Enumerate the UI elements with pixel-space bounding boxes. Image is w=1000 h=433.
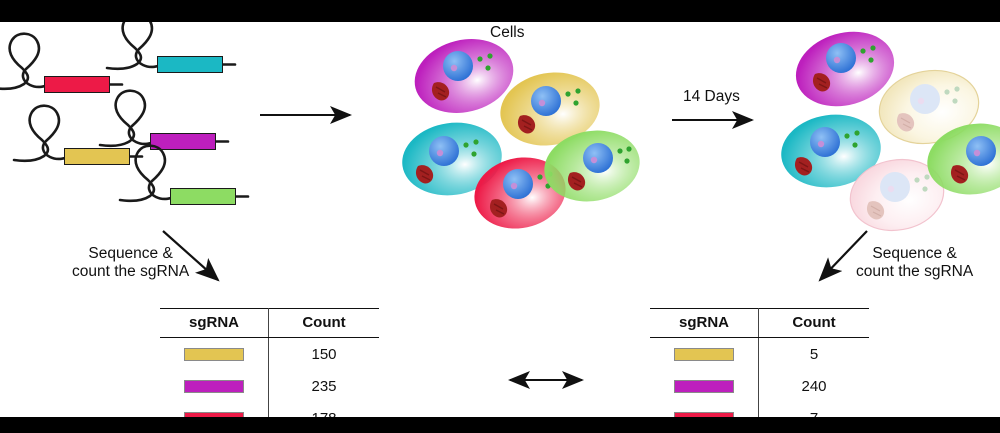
table-row: 235 — [160, 370, 379, 402]
header-sgrna: sgRNA — [650, 309, 759, 338]
letterbox-top — [0, 0, 1000, 22]
sgrna-swatch-yellow — [184, 348, 244, 361]
count-value: 150 — [269, 338, 380, 371]
sgrna-swatch-cell — [160, 370, 269, 402]
sgrna-swatch-cell — [650, 338, 759, 371]
right-sequence-arrow — [812, 228, 892, 293]
time-label: 14 Days — [683, 88, 740, 106]
table-before: sgRNA Count 150 235 — [160, 308, 379, 433]
cell-green — [540, 125, 644, 207]
time-arrow — [670, 110, 770, 136]
sgrna-swatch-cell — [160, 338, 269, 371]
table-after: sgRNA Count 5 240 — [650, 308, 869, 433]
count-table-after: sgRNA Count 5 240 — [650, 308, 868, 433]
header-sgrna: sgRNA — [160, 309, 269, 338]
table-row: 5 — [650, 338, 869, 371]
table-row: 150 — [160, 338, 379, 371]
header-count: Count — [759, 309, 870, 338]
left-sequence-arrow — [160, 228, 240, 293]
comparison-arrow — [498, 368, 594, 392]
sgrna-swatch-magenta — [674, 380, 734, 393]
sgrna-swatch-cell — [650, 370, 759, 402]
count-table-before: sgRNA Count 150 235 — [160, 308, 378, 433]
table-row: 240 — [650, 370, 869, 402]
sgrna-target-sequence-bar — [157, 56, 223, 73]
cell-green — [923, 118, 1000, 200]
crispr-screen-figure: Cells — [0, 0, 1000, 433]
count-value: 240 — [759, 370, 870, 402]
table-header-row: sgRNA Count — [650, 309, 869, 338]
sgrna-swatch-yellow — [674, 348, 734, 361]
sgrna-target-sequence-bar — [170, 188, 236, 205]
sgrna-construct-green — [118, 140, 248, 218]
letterbox-bottom — [0, 417, 1000, 433]
transduction-arrow — [258, 100, 368, 130]
sgrna-scaffold-icon — [118, 140, 248, 218]
count-value: 235 — [269, 370, 380, 402]
sgrna-swatch-magenta — [184, 380, 244, 393]
table-header-row: sgRNA Count — [160, 309, 379, 338]
header-count: Count — [269, 309, 380, 338]
count-value: 5 — [759, 338, 870, 371]
